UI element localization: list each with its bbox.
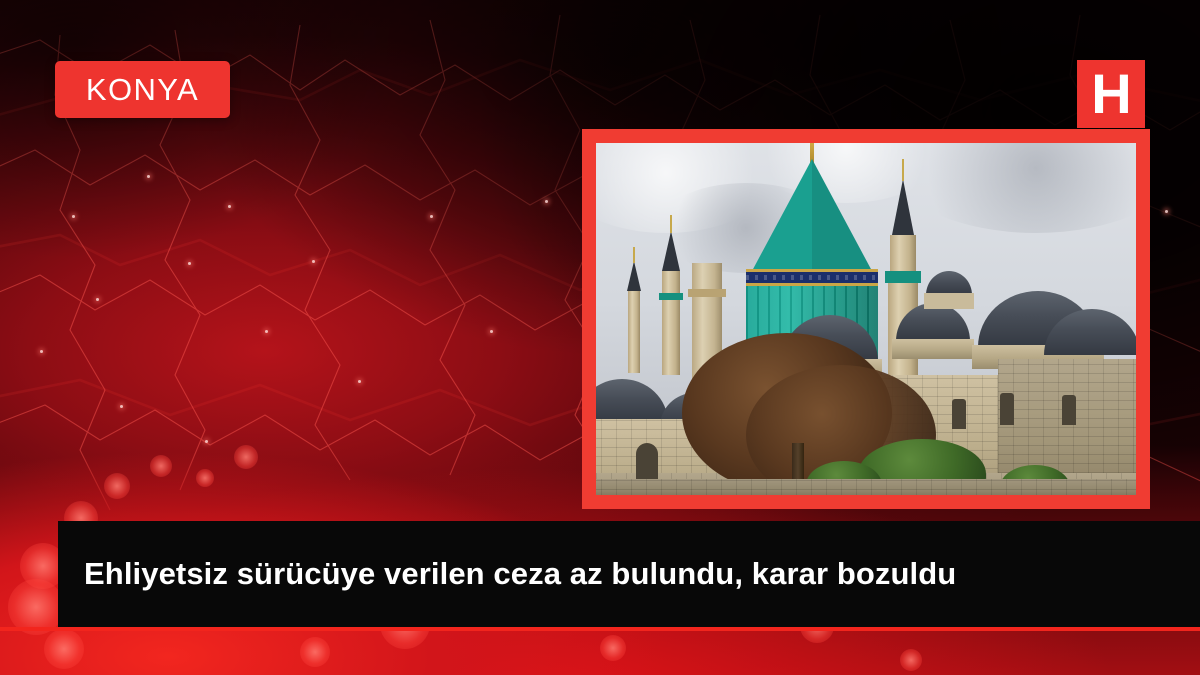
map-city-dot — [72, 215, 75, 218]
wall-window — [1062, 395, 1076, 425]
minaret-cap — [662, 231, 680, 271]
headline-text: Ehliyetsiz sürücüye verilen ceza az bulu… — [58, 554, 980, 594]
city-badge-label: KONYA — [86, 72, 199, 108]
foreground-wall — [596, 479, 1136, 495]
brand-logo-letter: H — [1091, 66, 1130, 122]
map-city-dot — [430, 215, 433, 218]
teal-dome-cone-shadow — [812, 159, 872, 271]
map-city-dot — [312, 260, 315, 263]
minaret-cap — [892, 179, 914, 235]
minaret-shaft — [628, 291, 640, 373]
wall-arch — [636, 443, 658, 483]
map-city-dot — [265, 330, 268, 333]
minaret-shaft — [662, 271, 680, 375]
brand-logo-icon: H — [1077, 60, 1145, 128]
news-photo — [596, 143, 1136, 495]
minaret-cap — [627, 261, 641, 291]
map-city-dot — [147, 175, 150, 178]
map-city-dot — [1165, 210, 1168, 213]
map-city-dot — [228, 205, 231, 208]
minaret-rod — [902, 159, 904, 181]
map-city-dot — [96, 298, 99, 301]
news-card: KONYA H — [0, 0, 1200, 675]
city-badge: KONYA — [55, 61, 230, 118]
stone-dome-base — [892, 339, 974, 359]
wall-window — [1000, 393, 1014, 425]
headline-bar: Ehliyetsiz sürücüye verilen ceza az bulu… — [58, 521, 1200, 627]
turret-base — [924, 293, 974, 309]
map-city-dot — [205, 440, 208, 443]
map-city-dot — [120, 405, 123, 408]
map-city-dot — [188, 262, 191, 265]
map-city-dot — [358, 380, 361, 383]
wall-window — [952, 399, 966, 429]
minaret-balcony — [885, 271, 921, 283]
minaret-rod — [633, 247, 635, 263]
dome-inscription-band — [746, 269, 878, 286]
headline-accent-rule — [0, 627, 1200, 631]
minaret-shaft — [890, 235, 916, 271]
map-city-dot — [490, 330, 493, 333]
tower-balcony — [688, 289, 726, 297]
news-photo-frame — [582, 129, 1150, 509]
map-city-dot — [545, 200, 548, 203]
map-city-dot — [40, 350, 43, 353]
minaret-balcony — [659, 293, 683, 300]
minaret-rod — [670, 215, 672, 233]
